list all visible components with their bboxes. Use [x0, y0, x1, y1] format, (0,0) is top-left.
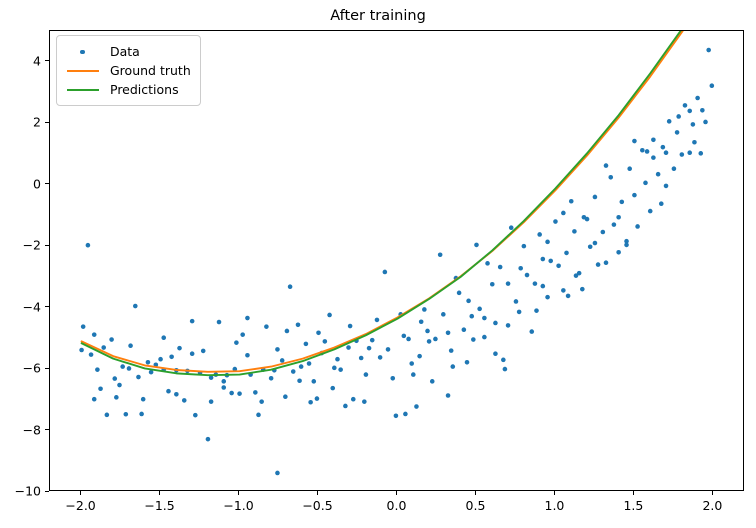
scatter-point: [124, 412, 129, 417]
scatter-point: [177, 346, 182, 351]
scatter-point: [307, 361, 312, 366]
scatter-point: [146, 360, 151, 365]
scatter-point: [422, 307, 427, 312]
scatter-point: [661, 145, 666, 150]
y-tick-label: 0: [1, 176, 41, 191]
scatter-point: [308, 400, 313, 405]
x-tick-mark: [317, 491, 318, 495]
scatter-point: [158, 357, 163, 362]
scatter-point: [498, 265, 503, 270]
scatter-point: [288, 284, 293, 289]
scatter-point: [427, 339, 432, 344]
scatter-point: [604, 260, 609, 265]
scatter-point: [161, 335, 166, 340]
scatter-point: [112, 376, 117, 381]
scatter-point: [541, 257, 546, 262]
x-tick-label: −1.5: [130, 498, 190, 513]
scatter-point: [525, 273, 530, 278]
scatter-point: [280, 358, 285, 363]
scatter-point: [264, 324, 269, 329]
scatter-point: [95, 367, 100, 372]
scatter-point: [375, 318, 380, 323]
scatter-point: [332, 366, 337, 371]
scatter-point: [419, 319, 424, 324]
scatter-point: [275, 471, 280, 476]
scatter-point: [441, 312, 446, 317]
scatter-point: [645, 149, 650, 154]
y-tick-label: −4: [1, 299, 41, 314]
scatter-point: [687, 150, 692, 155]
scatter-point: [174, 392, 179, 397]
y-tick-label: 2: [1, 115, 41, 130]
scatter-point: [237, 391, 242, 396]
scatter-point: [291, 369, 296, 374]
scatter-point: [465, 360, 470, 365]
scatter-point: [561, 211, 566, 216]
scatter-point: [206, 437, 211, 442]
scatter-point: [506, 323, 511, 328]
scatter-point: [545, 295, 550, 300]
scatter-point: [593, 195, 598, 200]
legend-label-predictions: Predictions: [110, 82, 179, 97]
scatter-point: [676, 114, 681, 119]
scatter-point: [680, 152, 685, 157]
scatter-point: [409, 361, 414, 366]
scatter-point: [245, 316, 250, 321]
scatter-point: [624, 243, 629, 248]
scatter-point: [335, 357, 340, 362]
scatter-point: [695, 96, 700, 101]
scatter-point: [588, 244, 593, 249]
scatter-point: [561, 288, 566, 293]
scatter-point: [446, 393, 451, 398]
scatter-point: [275, 347, 280, 352]
scatter-point: [687, 109, 692, 114]
scatter-point: [700, 108, 705, 113]
y-tick-mark: [45, 183, 49, 184]
scatter-point: [114, 395, 119, 400]
x-tick-label: −0.5: [288, 498, 348, 513]
scatter-point: [92, 332, 97, 337]
scatter-point: [190, 319, 195, 324]
scatter-point: [120, 364, 125, 369]
legend-item-ground-truth: Ground truth: [65, 61, 191, 80]
x-tick-mark: [633, 491, 634, 495]
scatter-point: [348, 324, 353, 329]
scatter-point: [343, 404, 348, 409]
scatter-point: [221, 385, 226, 390]
scatter-point: [664, 184, 669, 189]
scatter-point: [425, 329, 430, 334]
y-tick-label: −10: [1, 484, 41, 499]
scatter-point: [253, 390, 258, 395]
scatter-point: [612, 222, 617, 227]
scatter-point: [556, 264, 561, 269]
chart-legend[interactable]: Data Ground truth Predictions: [56, 35, 201, 106]
y-tick-label: −2: [1, 238, 41, 253]
scatter-point: [632, 139, 637, 144]
scatter-point: [672, 166, 677, 171]
y-tick-mark: [45, 60, 49, 61]
scatter-point: [411, 372, 416, 377]
scatter-point: [446, 331, 451, 336]
scatter-point: [529, 329, 534, 334]
scatter-point: [471, 337, 476, 342]
y-tick-label: −6: [1, 361, 41, 376]
scatter-point: [304, 342, 309, 347]
y-tick-mark: [45, 122, 49, 123]
legend-item-predictions: Predictions: [65, 80, 191, 99]
scatter-point: [190, 351, 195, 356]
scatter-point: [323, 339, 328, 344]
x-tick-mark: [475, 491, 476, 495]
scatter-point: [296, 323, 301, 328]
legend-marker-dot-icon: [65, 45, 101, 59]
matplotlib-figure: After training 420−2−4−6−8−10−2.0−1.5−1.…: [0, 0, 756, 528]
scatter-point: [139, 412, 144, 417]
scatter-point: [98, 386, 103, 391]
scatter-point: [698, 151, 703, 156]
scatter-points-layer: [79, 48, 714, 476]
scatter-point: [482, 335, 487, 340]
x-tick-label: 0.0: [367, 498, 427, 513]
scatter-point: [635, 224, 640, 229]
y-tick-label: −8: [1, 422, 41, 437]
scatter-point: [675, 130, 680, 135]
x-tick-label: 2.0: [682, 498, 742, 513]
scatter-point: [503, 367, 508, 372]
scatter-point: [553, 219, 558, 224]
scatter-point: [659, 201, 664, 206]
chart-title: After training: [0, 8, 756, 24]
y-tick-label: 4: [1, 53, 41, 68]
scatter-point: [101, 345, 106, 350]
scatter-point: [359, 356, 364, 361]
scatter-point: [229, 391, 234, 396]
legend-label-data: Data: [110, 44, 140, 59]
scatter-point: [269, 376, 274, 381]
y-tick-mark: [45, 368, 49, 369]
scatter-point: [402, 334, 407, 339]
x-tick-label: 1.0: [524, 498, 584, 513]
x-tick-label: −2.0: [51, 498, 111, 513]
scatter-point: [362, 399, 367, 404]
scatter-point: [346, 345, 351, 350]
legend-marker-line-icon: [65, 83, 101, 97]
scatter-point: [651, 138, 656, 143]
scatter-point: [136, 375, 141, 380]
scatter-point: [109, 337, 114, 342]
scatter-point: [390, 376, 395, 381]
scatter-point: [209, 399, 214, 404]
scatter-point: [406, 337, 411, 342]
scatter-point: [537, 232, 542, 237]
scatter-point: [182, 398, 187, 403]
scatter-point: [640, 148, 645, 153]
scatter-point: [394, 413, 399, 418]
x-tick-mark: [80, 491, 81, 495]
y-tick-mark: [45, 245, 49, 246]
scatter-point: [517, 310, 522, 315]
scatter-point: [414, 404, 419, 409]
scatter-point: [457, 291, 462, 296]
scatter-point: [403, 412, 408, 417]
scatter-point: [327, 313, 332, 318]
scatter-point: [370, 338, 375, 343]
scatter-point: [169, 354, 174, 359]
scatter-point: [285, 329, 290, 334]
scatter-point: [534, 308, 539, 313]
scatter-point: [466, 299, 471, 304]
scatter-point: [620, 200, 625, 205]
scatter-point: [482, 316, 487, 321]
scatter-point: [450, 364, 455, 369]
scatter-point: [569, 199, 574, 204]
scatter-point: [493, 321, 498, 326]
scatter-point: [683, 103, 688, 108]
scatter-point: [81, 324, 86, 329]
scatter-point: [330, 386, 335, 391]
x-tick-mark: [712, 491, 713, 495]
scatter-point: [501, 358, 506, 363]
legend-item-data: Data: [65, 42, 191, 61]
scatter-point: [299, 364, 304, 369]
scatter-point: [522, 244, 527, 249]
x-tick-mark: [238, 491, 239, 495]
scatter-point: [564, 251, 569, 256]
y-tick-mark: [45, 491, 49, 492]
scatter-point: [245, 353, 250, 358]
scatter-point: [240, 332, 245, 337]
legend-label-ground-truth: Ground truth: [110, 63, 191, 78]
scatter-point: [596, 262, 601, 267]
scatter-point: [656, 172, 661, 177]
y-tick-mark: [45, 429, 49, 430]
x-tick-label: 0.5: [445, 498, 505, 513]
scatter-point: [127, 366, 132, 371]
scatter-point: [608, 175, 613, 180]
scatter-point: [667, 119, 672, 124]
scatter-point: [604, 163, 609, 168]
scatter-point: [566, 294, 571, 299]
scatter-point: [201, 349, 206, 354]
x-tick-mark: [554, 491, 555, 495]
legend-marker-line-icon: [65, 64, 101, 78]
scatter-point: [367, 346, 372, 351]
scatter-point: [128, 343, 133, 348]
scatter-point: [89, 352, 94, 357]
scatter-point: [514, 299, 519, 304]
scatter-point: [133, 304, 138, 309]
scatter-point: [632, 193, 637, 198]
scatter-point: [221, 379, 226, 384]
scatter-point: [582, 215, 587, 220]
scatter-point: [430, 379, 435, 384]
scatter-point: [79, 348, 84, 353]
scatter-point: [648, 209, 653, 214]
scatter-point: [601, 230, 606, 235]
scatter-point: [643, 181, 648, 186]
y-tick-mark: [45, 306, 49, 307]
scatter-point: [509, 225, 514, 230]
scatter-point: [283, 394, 288, 399]
scatter-point: [378, 355, 383, 360]
scatter-point: [485, 261, 490, 266]
scatter-point: [518, 266, 523, 271]
scatter-point: [477, 307, 482, 312]
scatter-point: [580, 287, 585, 292]
scatter-point: [316, 331, 321, 336]
scatter-point: [703, 120, 708, 125]
scatter-point: [541, 284, 546, 289]
scatter-point: [706, 48, 711, 53]
scatter-point: [256, 413, 261, 418]
scatter-point: [462, 327, 467, 332]
x-tick-mark: [159, 491, 160, 495]
scatter-point: [490, 282, 495, 287]
scatter-point: [691, 122, 696, 127]
scatter-point: [297, 378, 302, 383]
scatter-point: [545, 240, 550, 245]
scatter-point: [593, 241, 598, 246]
scatter-point: [86, 243, 91, 248]
scatter-point: [474, 243, 479, 248]
scatter-point: [386, 347, 391, 352]
scatter-point: [533, 281, 538, 286]
scatter-point: [710, 83, 715, 88]
scatter-point: [234, 340, 239, 345]
scatter-point: [493, 351, 498, 356]
scatter-point: [338, 367, 343, 372]
scatter-point: [351, 397, 356, 402]
scatter-point: [616, 250, 621, 255]
x-tick-label: −1.0: [209, 498, 269, 513]
scatter-point: [193, 413, 198, 418]
scatter-point: [117, 383, 122, 388]
scatter-point: [311, 379, 316, 384]
scatter-point: [259, 399, 264, 404]
scatter-point: [141, 397, 146, 402]
scatter-point: [506, 281, 511, 286]
scatter-point: [692, 140, 697, 145]
scatter-point: [449, 348, 454, 353]
scatter-point: [105, 413, 110, 418]
scatter-point: [417, 354, 422, 359]
scatter-point: [364, 372, 369, 377]
scatter-point: [92, 397, 97, 402]
scatter-point: [664, 150, 669, 155]
scatter-point: [627, 166, 632, 171]
x-tick-mark: [396, 491, 397, 495]
scatter-point: [469, 314, 474, 319]
scatter-point: [572, 229, 577, 234]
scatter-point: [166, 389, 171, 394]
x-tick-label: 1.5: [603, 498, 663, 513]
scatter-point: [651, 155, 656, 160]
scatter-point: [574, 273, 579, 278]
scatter-point: [217, 320, 222, 325]
scatter-point: [616, 215, 621, 220]
scatter-point: [383, 270, 388, 275]
scatter-point: [433, 337, 438, 342]
scatter-point: [438, 252, 443, 257]
scatter-point: [315, 396, 320, 401]
scatter-point: [548, 259, 553, 264]
